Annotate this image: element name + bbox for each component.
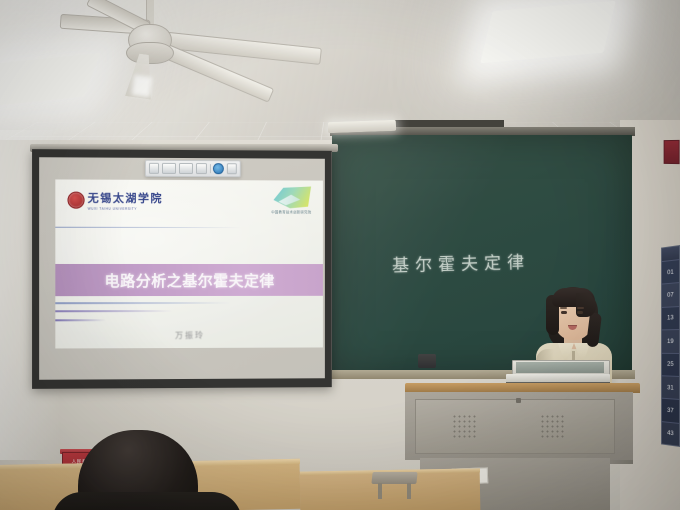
slide-title-band: 电路分析之基尔霍夫定律 [55, 264, 323, 296]
instructor-eyebrow [577, 307, 584, 309]
slide-rule-1 [55, 302, 230, 304]
instructor-eye [577, 311, 583, 314]
classroom-photo: 基尔霍夫定律 无锡太湖学院 WUXI TAIHU UNIVERSITY 中 [0, 0, 680, 510]
expand-icon[interactable] [227, 163, 237, 174]
podium-vent-right [540, 414, 566, 438]
slide-icon[interactable] [162, 163, 176, 174]
notes-icon[interactable] [179, 163, 193, 174]
laptop-screen [516, 362, 604, 373]
podium-vent-left [452, 414, 478, 438]
duty-cell: 43 [662, 421, 679, 446]
student-shoulders [52, 492, 242, 510]
duty-cell: 37 [662, 398, 679, 423]
duty-cell: 31 [662, 375, 679, 399]
presentation-slide: 无锡太湖学院 WUXI TAIHU UNIVERSITY 中国教育技术创新研究院… [55, 179, 323, 348]
secondary-logo-text: 中国教育技术创新研究院 [270, 209, 313, 214]
university-seal-icon [67, 192, 84, 209]
stool-leg [378, 483, 382, 499]
home-icon[interactable] [149, 163, 159, 174]
pointer-icon[interactable] [196, 163, 206, 174]
slide-rule-3 [55, 319, 105, 321]
toolbar-divider [209, 164, 210, 173]
duty-cell: 25 [662, 352, 679, 375]
duty-cell: 07 [662, 282, 679, 306]
university-name-cn: 无锡太湖学院 [88, 190, 163, 206]
instructor-eyebrow [560, 307, 567, 309]
duty-cell: 13 [662, 306, 679, 330]
secondary-logo: 中国教育技术创新研究院 [270, 186, 313, 220]
podium-panel-inset [415, 399, 615, 454]
university-name-en: WUXI TAIHU UNIVERSITY [88, 207, 163, 211]
slide-title: 电路分析之基尔霍夫定律 [55, 264, 323, 296]
stool-leg [407, 483, 411, 499]
info-icon[interactable] [213, 163, 223, 174]
fan-lamp-glow [132, 75, 153, 97]
red-wall-sign [664, 140, 680, 164]
slide-presenter-name: 万振玲 [55, 330, 323, 342]
duty-cell: 01 [662, 259, 679, 284]
chalk-eraser-icon [418, 354, 436, 368]
slide-rule-2 [55, 310, 172, 312]
ceiling-fan-hub [126, 42, 174, 64]
blackboard-chalk-text: 基尔霍夫定律 [392, 247, 573, 277]
instructor-eye [561, 311, 567, 314]
duty-cell: 19 [662, 329, 679, 352]
duty-roster-chart: 01 07 13 19 25 31 37 43 [661, 245, 680, 447]
projector-screen-surface: 无锡太湖学院 WUXI TAIHU UNIVERSITY 中国教育技术创新研究院… [39, 157, 325, 380]
university-logo: 无锡太湖学院 WUXI TAIHU UNIVERSITY [67, 190, 163, 211]
projector-screen: 无锡太湖学院 WUXI TAIHU UNIVERSITY 中国教育技术创新研究院… [32, 149, 332, 389]
powerpoint-toolbar[interactable] [145, 160, 241, 177]
board-light-housing [394, 120, 504, 127]
podium-lock-icon[interactable] [516, 398, 521, 403]
